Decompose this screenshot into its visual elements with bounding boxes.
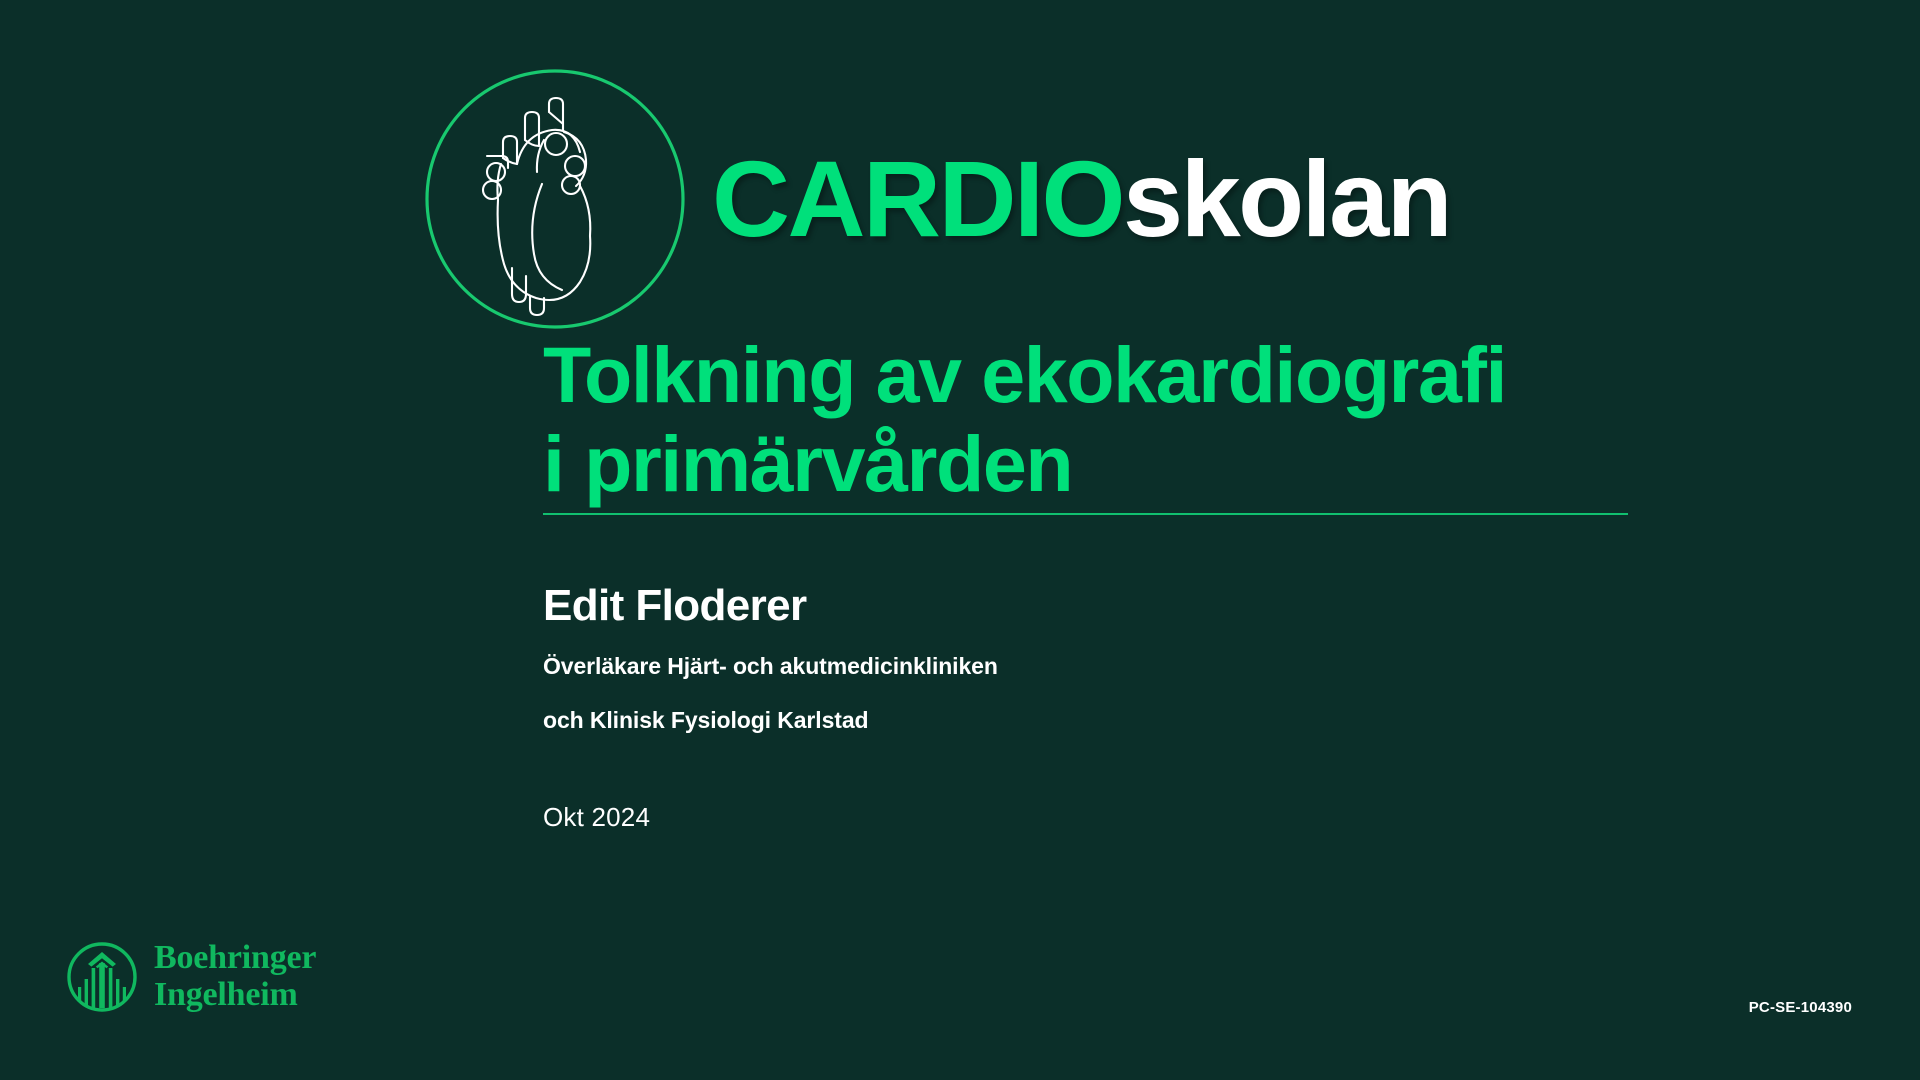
presenter-name: Edit Floderer [543, 580, 1543, 632]
company-name-line-2: Ingelheim [154, 977, 316, 1014]
wordmark-skolan: skolan [1123, 138, 1450, 259]
company-name-line-1: Boehringer [154, 940, 316, 977]
wordmark-cardio: CARDIO [712, 138, 1123, 259]
company-logo: Boehringer Ingelheim [66, 940, 316, 1013]
page-title: Tolkning av ekokardiografi i primärvårde… [543, 330, 1633, 515]
boehringer-ingelheim-akanthus-icon [66, 941, 138, 1013]
wordmark: CARDIOskolan [712, 145, 1450, 253]
job-code: PC-SE-104390 [1749, 1000, 1852, 1015]
title-line-1: Tolkning av ekokardiografi [543, 330, 1633, 419]
presenter-role-line-1: Överläkare Hjärt- och akutmedicinklinike… [543, 646, 1543, 686]
presenter-role-line-2: och Klinisk Fysiologi Karlstad [543, 700, 1543, 740]
title-line-2: i primärvården [543, 419, 1633, 508]
presenter-block: Edit Floderer Överläkare Hjärt- och akut… [543, 580, 1543, 833]
title-slide: CARDIOskolan Tolkning av ekokardiografi … [0, 0, 1920, 1080]
anatomical-heart-in-circle-icon [424, 68, 686, 330]
company-name: Boehringer Ingelheim [154, 940, 316, 1013]
title-underline-rule [543, 513, 1628, 515]
presentation-date: Okt 2024 [543, 802, 1543, 833]
brand-lockup: CARDIOskolan [424, 68, 1450, 330]
